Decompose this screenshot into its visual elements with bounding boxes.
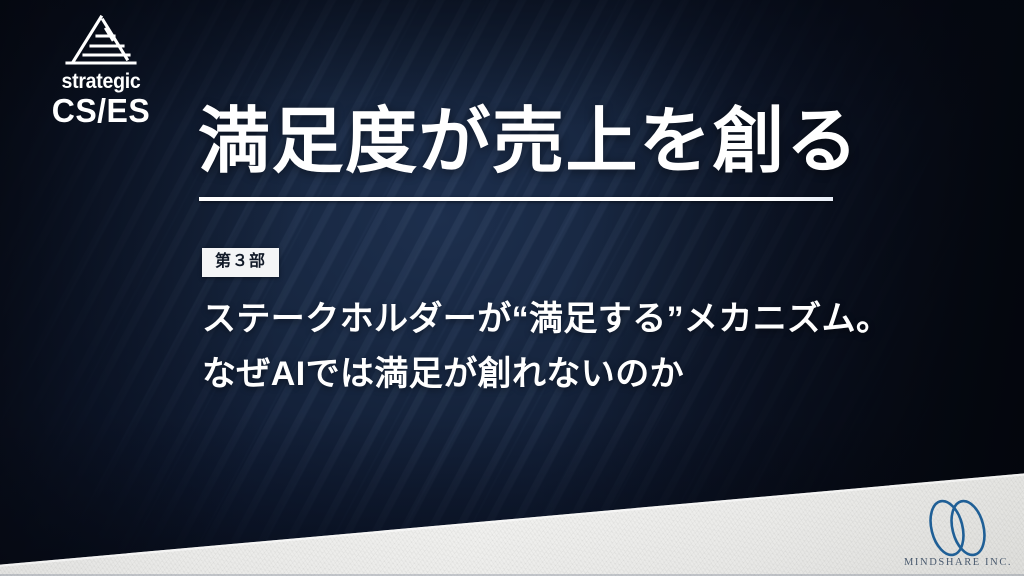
section-badge: 第３部 bbox=[202, 248, 279, 277]
title-block: 満足度が売上を創る bbox=[198, 104, 860, 182]
subtitle-line-1: ステークホルダーが“満足する”メカニズム。 bbox=[202, 292, 890, 347]
triangle-monogram-icon bbox=[53, 12, 149, 68]
brand-logo: strategic CS/ES bbox=[26, 12, 176, 129]
slide-title: 満足度が売上を創る bbox=[198, 104, 860, 182]
corporate-name: MINDSHARE INC. bbox=[904, 557, 1012, 568]
title-underline bbox=[199, 197, 833, 201]
presentation-slide: strategic CS/ES 満足度が売上を創る 第３部 ステークホルダーが“… bbox=[0, 0, 1024, 576]
brand-line-cses: CS/ES bbox=[28, 94, 174, 129]
double-loop-icon bbox=[912, 497, 1004, 559]
brand-line-strategic: strategic bbox=[31, 71, 171, 92]
corporate-logo: MINDSHARE INC. bbox=[904, 497, 1012, 568]
subtitle-line-2: なぜAIでは満足が創れないのか bbox=[202, 347, 890, 402]
slide-subtitle: ステークホルダーが“満足する”メカニズム。 なぜAIでは満足が創れないのか bbox=[202, 292, 890, 402]
